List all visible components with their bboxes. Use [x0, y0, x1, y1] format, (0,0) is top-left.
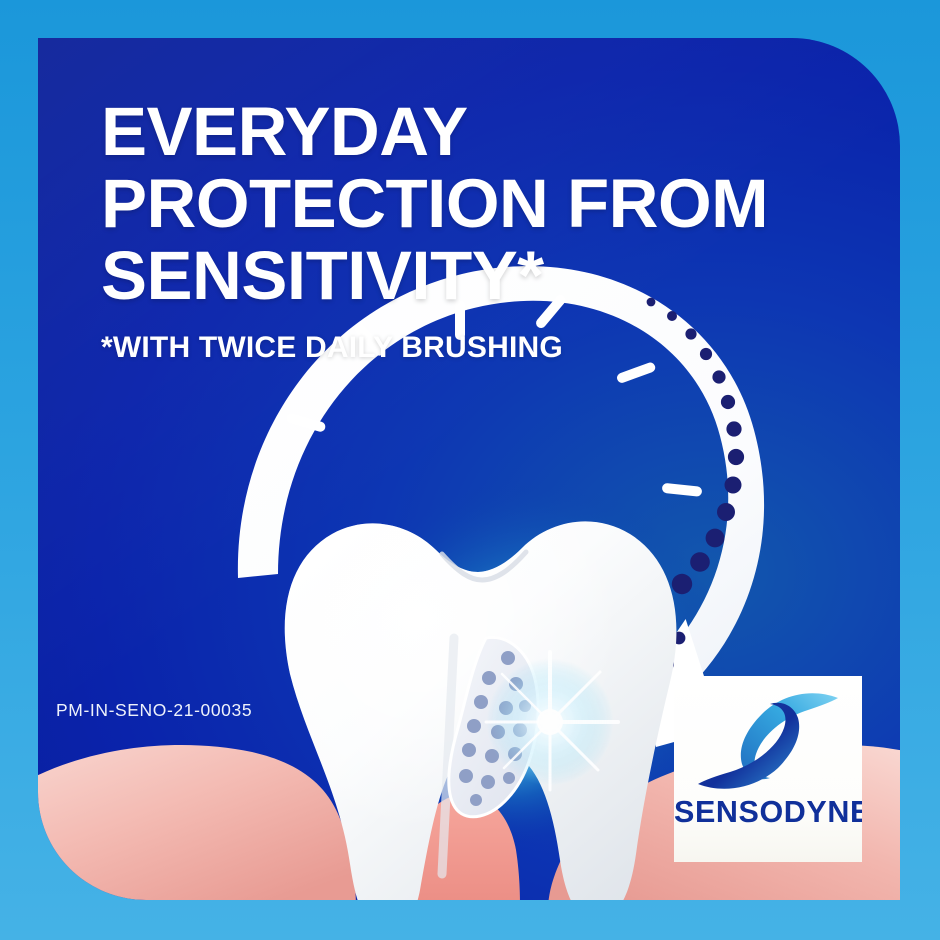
headline-line-2: PROTECTION FROM	[101, 168, 891, 240]
headline-block: EVERYDAY PROTECTION FROM SENSITIVITY* *W…	[101, 96, 891, 365]
gum-left	[38, 745, 356, 900]
headline-line-1: EVERYDAY	[101, 96, 891, 168]
advertisement-canvas: EVERYDAY PROTECTION FROM SENSITIVITY* *W…	[0, 0, 940, 940]
legal-code-text: PM-IN-SENO-21-00035	[56, 700, 252, 721]
headline-line-3: SENSITIVITY*	[101, 240, 891, 312]
sensodyne-wordmark: SENSODYNE	[674, 795, 862, 830]
subheadline: *WITH TWICE DAILY BRUSHING	[101, 331, 891, 365]
sensodyne-s-swoosh-icon	[686, 684, 850, 796]
sensodyne-logo-panel: SENSODYNE	[674, 676, 862, 862]
